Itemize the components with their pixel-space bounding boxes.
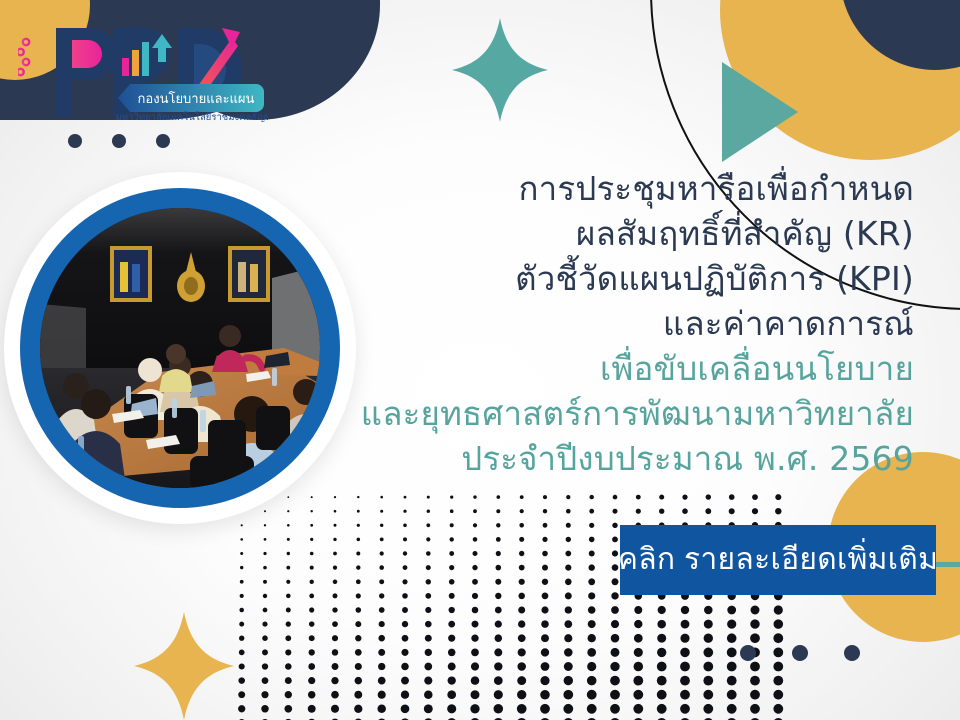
title-line-2: ผลสัมฤทธิ์ที่สำคัญ (KR): [354, 211, 914, 256]
dot: [112, 134, 126, 148]
amber-star-icon: [134, 612, 234, 720]
dot: [844, 645, 860, 661]
teal-triangle-decoration: [722, 62, 798, 162]
teal-star-icon: [452, 18, 548, 122]
meeting-photo: [40, 208, 320, 488]
more-details-button-label: คลิก รายละเอียดเพิ่มเติม: [618, 543, 938, 577]
dot: [68, 134, 82, 148]
title-line-4: และค่าคาดการณ์: [354, 301, 914, 346]
wall-portrait-left: [110, 246, 152, 302]
dots-row-top: [68, 134, 170, 148]
logo-letter-p1: [56, 28, 116, 116]
more-details-button[interactable]: คลิก รายละเอียดเพิ่มเติม: [620, 525, 936, 595]
dots-row-bottom: [740, 645, 860, 661]
title-line-3: ตัวชี้วัดแผนปฏิบัติการ (KPI): [354, 256, 914, 301]
wall-portrait-right: [228, 246, 270, 302]
logo-org-name: กองนโยบายและแผน: [138, 91, 255, 107]
meeting-photo-frame: [4, 172, 356, 524]
title-line-7: ประจำปีงบประมาณ พ.ศ. 2569: [354, 436, 914, 481]
dot: [156, 134, 170, 148]
dot: [740, 645, 756, 661]
organisation-logo[interactable]: กองนโยบายและแผน มหาวิทยาลัยเทคโนโลยีราชม…: [18, 14, 268, 124]
logo-university-name: มหาวิทยาลัยเทคโนโลยีราชมงคลธัญบุรี: [116, 111, 268, 123]
dot: [792, 645, 808, 661]
title-line-5: เพื่อขับเคลื่อนนโยบาย: [354, 346, 914, 391]
title-line-6: และยุทธศาสตร์การพัฒนามหาวิทยาลัย: [354, 391, 914, 436]
page-title: การประชุมหารือเพื่อกำหนด ผลสัมฤทธิ์ที่สำ…: [354, 166, 914, 481]
poster-canvas: กองนโยบายและแผน มหาวิทยาลัยเทคโนโลยีราชม…: [0, 0, 960, 720]
title-line-1: การประชุมหารือเพื่อกำหนด: [354, 166, 914, 211]
